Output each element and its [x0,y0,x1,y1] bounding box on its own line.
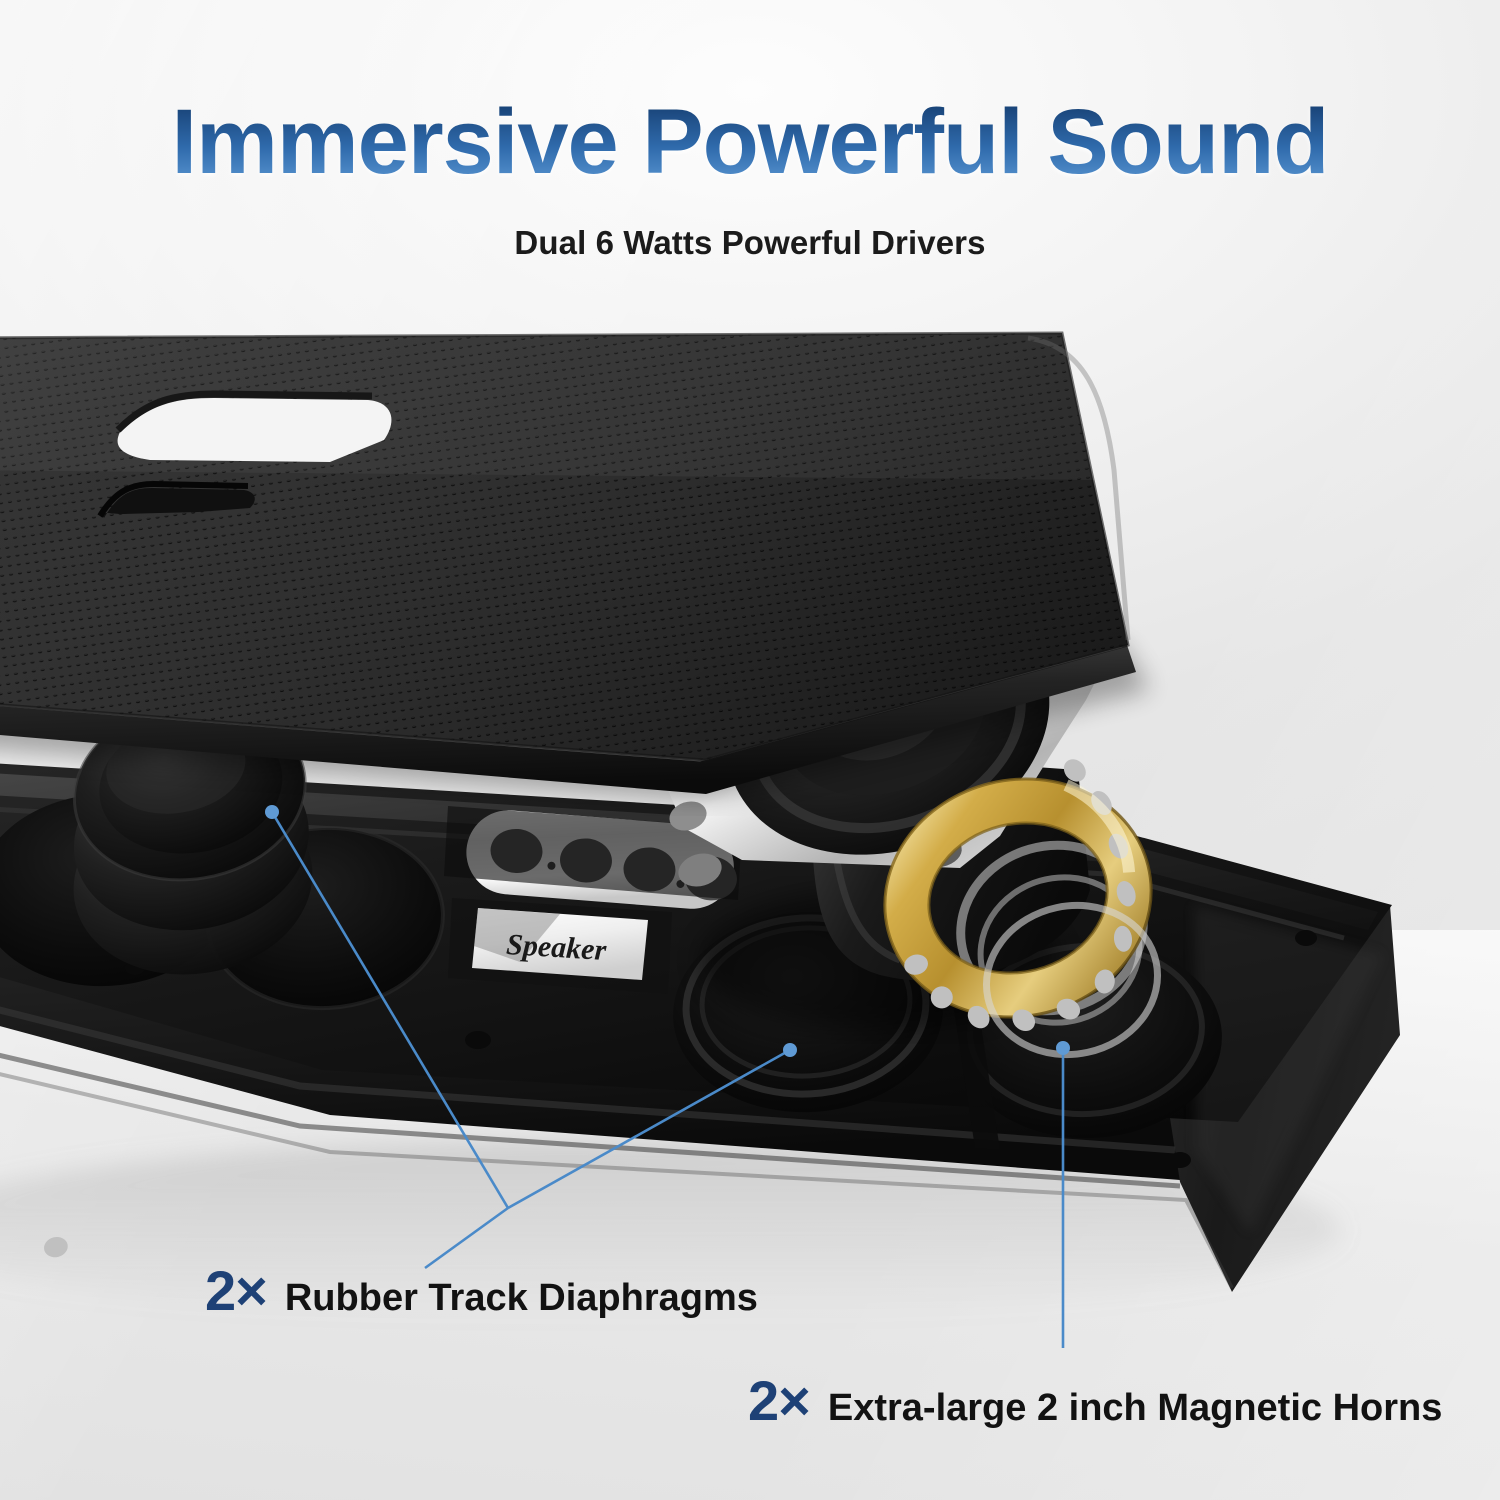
leader-dot-horn [1056,1041,1070,1055]
annotation-2-quantity: 2× [748,1368,810,1433]
annotation-2-label: Extra-large 2 inch Magnetic Horns [828,1387,1443,1430]
annotation-1-quantity: 2× [205,1258,267,1323]
annotation-rubber-track-diaphragms: 2× Rubber Track Diaphragms [205,1258,758,1323]
speaker-badge: Speaker [448,898,672,994]
screw-hole-1 [465,1031,491,1049]
badge-text: Speaker [505,928,607,967]
annotation-1-label: Rubber Track Diaphragms [285,1277,758,1320]
annotation-magnetic-horns: 2× Extra-large 2 inch Magnetic Horns [748,1368,1442,1433]
leader-dot-diaphragm [265,805,279,819]
leader-dot-woofer [783,1043,797,1057]
perforated-grille-panel [0,300,1280,820]
grille-top-sheen [0,333,1100,480]
screw-hole-3 [1169,1152,1191,1168]
screw-hole-2 [1295,930,1317,946]
